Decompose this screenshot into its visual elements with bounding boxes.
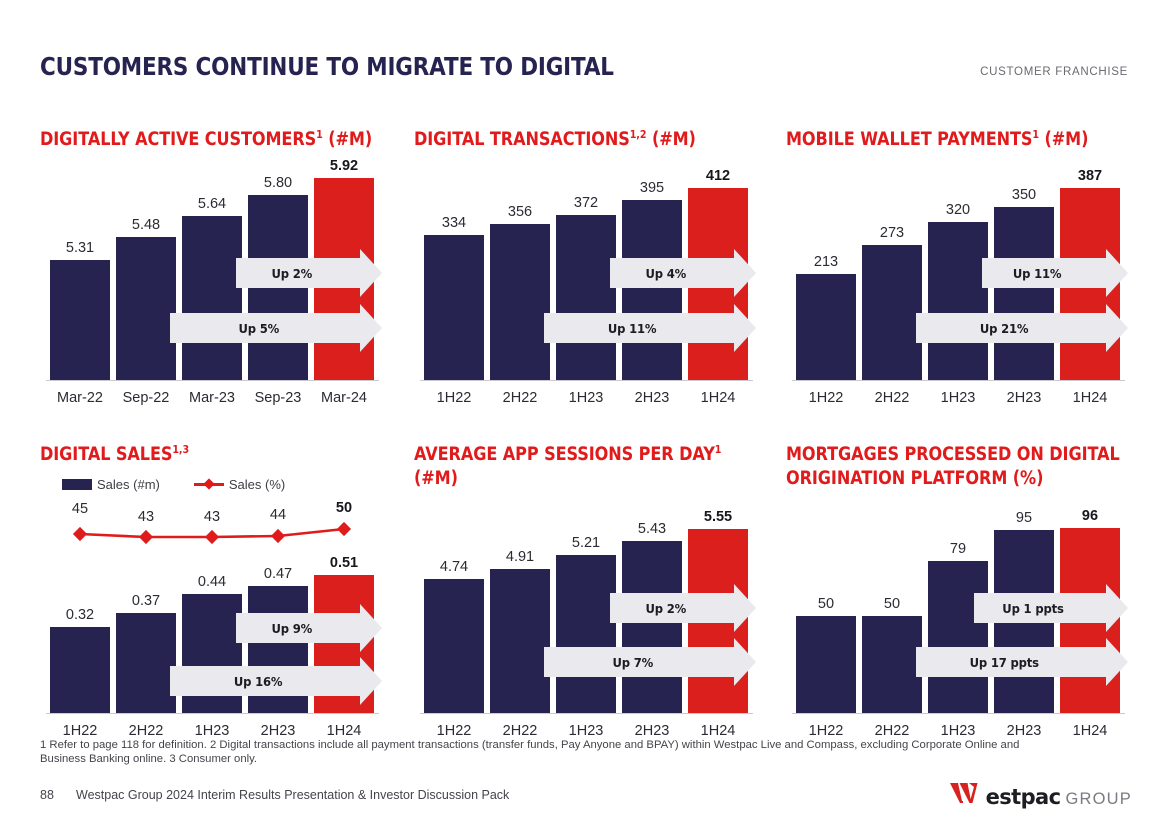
bar-column[interactable]: 372	[556, 170, 616, 380]
callout-label: Up 9%	[271, 621, 312, 636]
axis-tick-label: 2H22	[862, 723, 922, 739]
bar-value-label: 5.31	[50, 240, 110, 256]
axis-tick-label: Mar-22	[50, 390, 110, 406]
callout-arrow: Up 2%	[236, 258, 361, 288]
arrow-head-icon	[360, 249, 382, 297]
bar-column[interactable]: 356	[490, 170, 550, 380]
callout-label: Up 17 ppts	[970, 655, 1039, 670]
slide-header: CUSTOMERS CONTINUE TO MIGRATE TO DIGITAL…	[40, 52, 1128, 92]
plot-area: 4.74 4.91 5.21 5.43 5.55	[420, 511, 753, 714]
axis-tick-label: 2H23	[248, 723, 308, 739]
bar[interactable]	[862, 616, 922, 713]
callout-arrow: Up 17 ppts	[916, 647, 1107, 677]
panel-title: AVERAGE APP SESSIONS PER DAY1 (#M)	[414, 443, 759, 491]
callout-label: Up 16%	[234, 674, 283, 689]
panel-digitally-active-customers: DIGITALLY ACTIVE CUSTOMERS1 (#M) 5.31 5.…	[40, 128, 385, 418]
bar[interactable]	[50, 627, 110, 713]
legend-bar-swatch-icon	[62, 479, 92, 490]
footnote-line-2: Business Banking online. 3 Consumer only…	[40, 752, 1132, 766]
axis-tick-label: 1H22	[424, 723, 484, 739]
legend-line-marker-icon	[194, 478, 224, 490]
x-axis: 1H22 2H22 1H23 2H23 1H24	[792, 390, 1125, 414]
line-point-label: 43	[116, 509, 176, 525]
axis-tick-label: Sep-23	[248, 390, 308, 406]
axis-tick-label: Sep-22	[116, 390, 176, 406]
arrow-head-icon	[1106, 249, 1128, 297]
bar-column[interactable]: 4.74	[424, 511, 484, 713]
panel-title: DIGITAL TRANSACTIONS1,2 (#M)	[414, 128, 714, 152]
x-axis: 1H22 2H22 1H23 2H23 1H24	[420, 390, 753, 414]
panel-digital-transactions: DIGITAL TRANSACTIONS1,2 (#M) 334 356 372	[414, 128, 759, 418]
plot-area: 213 273 320 350 387	[792, 170, 1125, 381]
bar-value-label: 334	[424, 215, 484, 231]
bar-value-label: 0.37	[116, 593, 176, 609]
panel-mortgages-digital-origination: MORTGAGES PROCESSED ON DIGITAL ORIGINATI…	[786, 443, 1131, 733]
bar[interactable]	[796, 616, 856, 713]
bar[interactable]	[116, 613, 176, 713]
arrow-head-icon	[1106, 584, 1128, 632]
bar-value-label: 0.51	[314, 555, 374, 571]
callout-label: Up 4%	[645, 266, 686, 281]
bar-column[interactable]: 320	[928, 170, 988, 380]
axis-tick-label: 1H24	[688, 723, 748, 739]
axis-tick-label: 1H23	[556, 390, 616, 406]
line-point-label: 50	[314, 500, 374, 516]
bar-column[interactable]: 213	[796, 170, 856, 380]
legend-item-sales-pct: Sales (%)	[194, 477, 285, 492]
bar-value-label: 0.32	[50, 607, 110, 623]
callout-arrow: Up 4%	[610, 258, 735, 288]
panel-title: MOBILE WALLET PAYMENTS1 (#M)	[786, 128, 1086, 152]
page-title: CUSTOMERS CONTINUE TO MIGRATE TO DIGITAL	[40, 52, 976, 82]
x-axis: Mar-22 Sep-22 Mar-23 Sep-23 Mar-24	[46, 390, 379, 414]
bar-value-label: 4.91	[490, 549, 550, 565]
legend-item-sales-m: Sales (#m)	[62, 477, 160, 492]
bar-value-label: 372	[556, 195, 616, 211]
arrow-head-icon	[360, 604, 382, 652]
arrow-head-icon	[1106, 638, 1128, 686]
bar-value-label: 0.44	[182, 574, 242, 590]
axis-tick-label: 1H22	[796, 723, 856, 739]
westpac-w-mark-icon	[950, 782, 984, 804]
footnotes: 1 Refer to page 118 for definition. 2 Di…	[40, 738, 1132, 766]
bar[interactable]	[490, 569, 550, 713]
logo-wordmark: estpac	[986, 785, 1061, 809]
bar[interactable]	[928, 561, 988, 713]
axis-tick-label: 1H23	[928, 390, 988, 406]
axis-tick-label: 1H23	[182, 723, 242, 739]
bar-value-label: 5.43	[622, 521, 682, 537]
callout-arrow: Up 2%	[610, 593, 735, 623]
axis-tick-label: 1H22	[424, 390, 484, 406]
bar[interactable]	[116, 237, 176, 380]
bar-value-label: 5.48	[116, 217, 176, 233]
arrow-head-icon	[734, 304, 756, 352]
bar[interactable]	[182, 216, 242, 380]
bar-column[interactable]: 0.32	[50, 561, 110, 713]
bar-column[interactable]: 0.37	[116, 561, 176, 713]
callout-label: Up 21%	[980, 321, 1029, 336]
axis-tick-label: 2H22	[490, 723, 550, 739]
callout-label: Up 11%	[1013, 266, 1062, 281]
bar-value-label: 213	[796, 254, 856, 270]
callout-arrow: Up 5%	[170, 313, 361, 343]
legend-label: Sales (%)	[229, 477, 285, 492]
bar[interactable]	[490, 224, 550, 380]
axis-tick-label: 1H24	[314, 723, 374, 739]
bar[interactable]	[862, 245, 922, 380]
bar[interactable]	[424, 579, 484, 713]
plot-area: 0.32 0.37 0.44 0.47 0.51	[46, 561, 379, 714]
axis-tick-label: 1H23	[928, 723, 988, 739]
page-number: 88	[40, 788, 54, 802]
callout-label: Up 2%	[645, 601, 686, 616]
bar[interactable]	[928, 222, 988, 380]
bar-column[interactable]: 50	[796, 511, 856, 713]
callout-arrow: Up 16%	[170, 666, 361, 696]
line-point-label: 45	[50, 501, 110, 517]
arrow-head-icon	[360, 657, 382, 705]
bar-column[interactable]: 5.21	[556, 511, 616, 713]
axis-tick-label: 2H22	[862, 390, 922, 406]
footnote-line-1: 1 Refer to page 118 for definition. 2 Di…	[40, 738, 1132, 752]
bar[interactable]	[556, 215, 616, 380]
plot-area: 5.31 5.48 5.64 5.80 5.92	[46, 170, 379, 381]
panel-digital-sales: DIGITAL SALES1,3 Sales (#m) Sales (%) 45…	[40, 443, 385, 733]
bar[interactable]	[622, 200, 682, 380]
legend-label: Sales (#m)	[97, 477, 160, 492]
bar-value-label: 79	[928, 541, 988, 557]
arrow-head-icon	[734, 638, 756, 686]
bar-value-label: 95	[994, 510, 1054, 526]
bar-value-label: 395	[622, 180, 682, 196]
section-tag: CUSTOMER FRANCHISE	[980, 66, 1128, 78]
axis-tick-label: 1H22	[796, 390, 856, 406]
bar-value-label: 96	[1060, 508, 1120, 524]
axis-tick-label: 2H23	[994, 390, 1054, 406]
callout-label: Up 2%	[271, 266, 312, 281]
axis-tick-label: Mar-24	[314, 390, 374, 406]
chart-legend: Sales (#m) Sales (%)	[62, 475, 385, 493]
callout-arrow: Up 7%	[544, 647, 735, 677]
bar-value-label: 356	[490, 204, 550, 220]
bar-value-label: 273	[862, 225, 922, 241]
axis-tick-label: 2H23	[622, 723, 682, 739]
bar-value-label: 412	[688, 168, 748, 184]
callout-arrow: Up 1 ppts	[974, 593, 1107, 623]
chart-grid: DIGITALLY ACTIVE CUSTOMERS1 (#M) 5.31 5.…	[40, 128, 1132, 728]
panel-title: MORTGAGES PROCESSED ON DIGITAL ORIGINATI…	[786, 443, 1131, 491]
bar-column[interactable]: 5.48	[116, 170, 176, 380]
bar[interactable]	[994, 207, 1054, 380]
callout-arrow: Up 9%	[236, 613, 361, 643]
callout-arrow: Up 21%	[916, 313, 1107, 343]
axis-tick-label: 2H22	[490, 390, 550, 406]
line-point-label: 43	[182, 509, 242, 525]
axis-tick-label: 1H24	[1060, 723, 1120, 739]
bar[interactable]	[424, 235, 484, 380]
bar-column[interactable]: 4.91	[490, 511, 550, 713]
bar[interactable]	[622, 541, 682, 713]
bar[interactable]	[796, 274, 856, 380]
panel-average-app-sessions: AVERAGE APP SESSIONS PER DAY1 (#M) 4.74 …	[414, 443, 759, 733]
bar[interactable]	[556, 555, 616, 713]
axis-tick-label: 2H22	[116, 723, 176, 739]
line-point-label: 44	[248, 507, 308, 523]
axis-tick-label: 1H24	[1060, 390, 1120, 406]
bar-column[interactable]: 5.31	[50, 170, 110, 380]
bar-value-label: 5.64	[182, 196, 242, 212]
axis-tick-label: 2H23	[622, 390, 682, 406]
plot-area: 334 356 372 395 412	[420, 170, 753, 381]
bar-value-label: 5.21	[556, 535, 616, 551]
axis-tick-label: 1H23	[556, 723, 616, 739]
bar-value-label: 5.92	[314, 158, 374, 174]
panel-mobile-wallet-payments: MOBILE WALLET PAYMENTS1 (#M) 213 273 320	[786, 128, 1131, 418]
arrow-head-icon	[734, 249, 756, 297]
bar-column[interactable]: 50	[862, 511, 922, 713]
bar-value-label: 50	[796, 596, 856, 612]
axis-tick-label: Mar-23	[182, 390, 242, 406]
bar[interactable]	[50, 260, 110, 380]
axis-tick-label: 1H22	[50, 723, 110, 739]
callout-arrow: Up 11%	[544, 313, 735, 343]
callout-label: Up 5%	[238, 321, 279, 336]
bar-value-label: 0.47	[248, 566, 308, 582]
bar-value-label: 387	[1060, 168, 1120, 184]
arrow-head-icon	[360, 304, 382, 352]
arrow-head-icon	[1106, 304, 1128, 352]
arrow-head-icon	[734, 584, 756, 632]
bar-value-label: 320	[928, 202, 988, 218]
bar-column[interactable]: 273	[862, 170, 922, 380]
bar-value-label: 5.80	[248, 175, 308, 191]
bar-column[interactable]: 334	[424, 170, 484, 380]
plot-area: 50 50 79 95 96	[792, 511, 1125, 714]
callout-arrow: Up 11%	[982, 258, 1107, 288]
bar-value-label: 50	[862, 596, 922, 612]
slide-footer: 88 Westpac Group 2024 Interim Results Pr…	[40, 786, 1132, 816]
callout-label: Up 11%	[608, 321, 657, 336]
bar-value-label: 350	[994, 187, 1054, 203]
logo-group-text: GROUP	[1065, 790, 1132, 809]
panel-title: DIGITALLY ACTIVE CUSTOMERS1 (#M)	[40, 128, 340, 152]
bar-value-label: 4.74	[424, 559, 484, 575]
callout-label: Up 1 ppts	[1003, 601, 1064, 616]
axis-tick-label: 2H23	[994, 723, 1054, 739]
footer-text: Westpac Group 2024 Interim Results Prese…	[76, 788, 509, 802]
bar-value-label: 5.55	[688, 509, 748, 525]
axis-tick-label: 1H24	[688, 390, 748, 406]
panel-title: DIGITAL SALES1,3	[40, 443, 340, 467]
bar-column[interactable]: 5.64	[182, 170, 242, 380]
callout-label: Up 7%	[612, 655, 653, 670]
westpac-logo: estpac GROUP	[950, 782, 1132, 809]
